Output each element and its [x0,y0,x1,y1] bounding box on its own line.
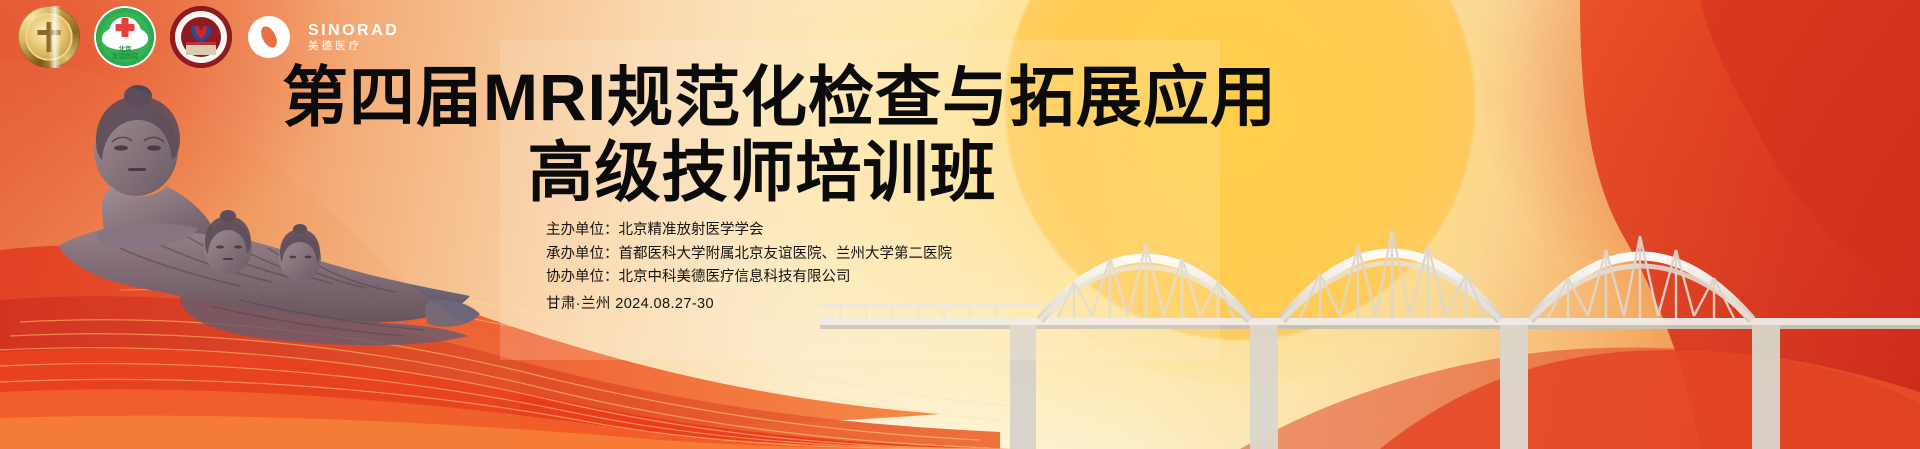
organizer-line-coorganizer: 协办单位：北京中科美德医疗信息科技有限公司 [546,266,952,290]
banner-title-line1: 第四届MRI规范化检查与拓展应用 [282,62,1242,132]
organizer-info: 主办单位：北京精准放射医学学会 承办单位：首都医科大学附属北京友谊医院、兰州大学… [546,219,952,316]
conference-banner: 北京 友谊医院 SINORAD 美德医疗 第四届MRI规范化检查与拓展应用 高级… [0,0,1920,449]
sinorad-eye-icon [246,14,292,60]
beijing-friendship-hospital-logo: 北京 友谊医院 [94,6,156,68]
sinorad-wordmark: SINORAD 美德医疗 [308,22,399,53]
banner-title-line2: 高级技师培训班 [282,137,1242,207]
university-seal-logo [170,6,232,68]
sinorad-eye-shape [248,16,290,58]
gold-emblem-logo [18,6,80,68]
hospital-label-line1: 北京 [94,46,156,53]
sinorad-brand-name: SINORAD [308,22,399,39]
seal-gate-icon [186,42,216,55]
hospital-label-line2: 友谊医院 [94,53,156,60]
partner-logos: 北京 友谊医院 SINORAD 美德医疗 [18,6,399,68]
organizer-line-undertaker: 承办单位：首都医科大学附属北京友谊医院、兰州大学第二医院 [546,243,952,267]
gold-emblem-shine [49,6,61,68]
medical-cross-icon [122,18,129,37]
sinorad-brand-name-cn: 美德医疗 [308,40,362,53]
organizer-line-host: 主办单位：北京精准放射医学学会 [546,219,952,243]
event-location-date: 甘肃·兰州 2024.08.27-30 [546,293,952,317]
hospital-logo-label: 北京 友谊医院 [94,46,156,60]
